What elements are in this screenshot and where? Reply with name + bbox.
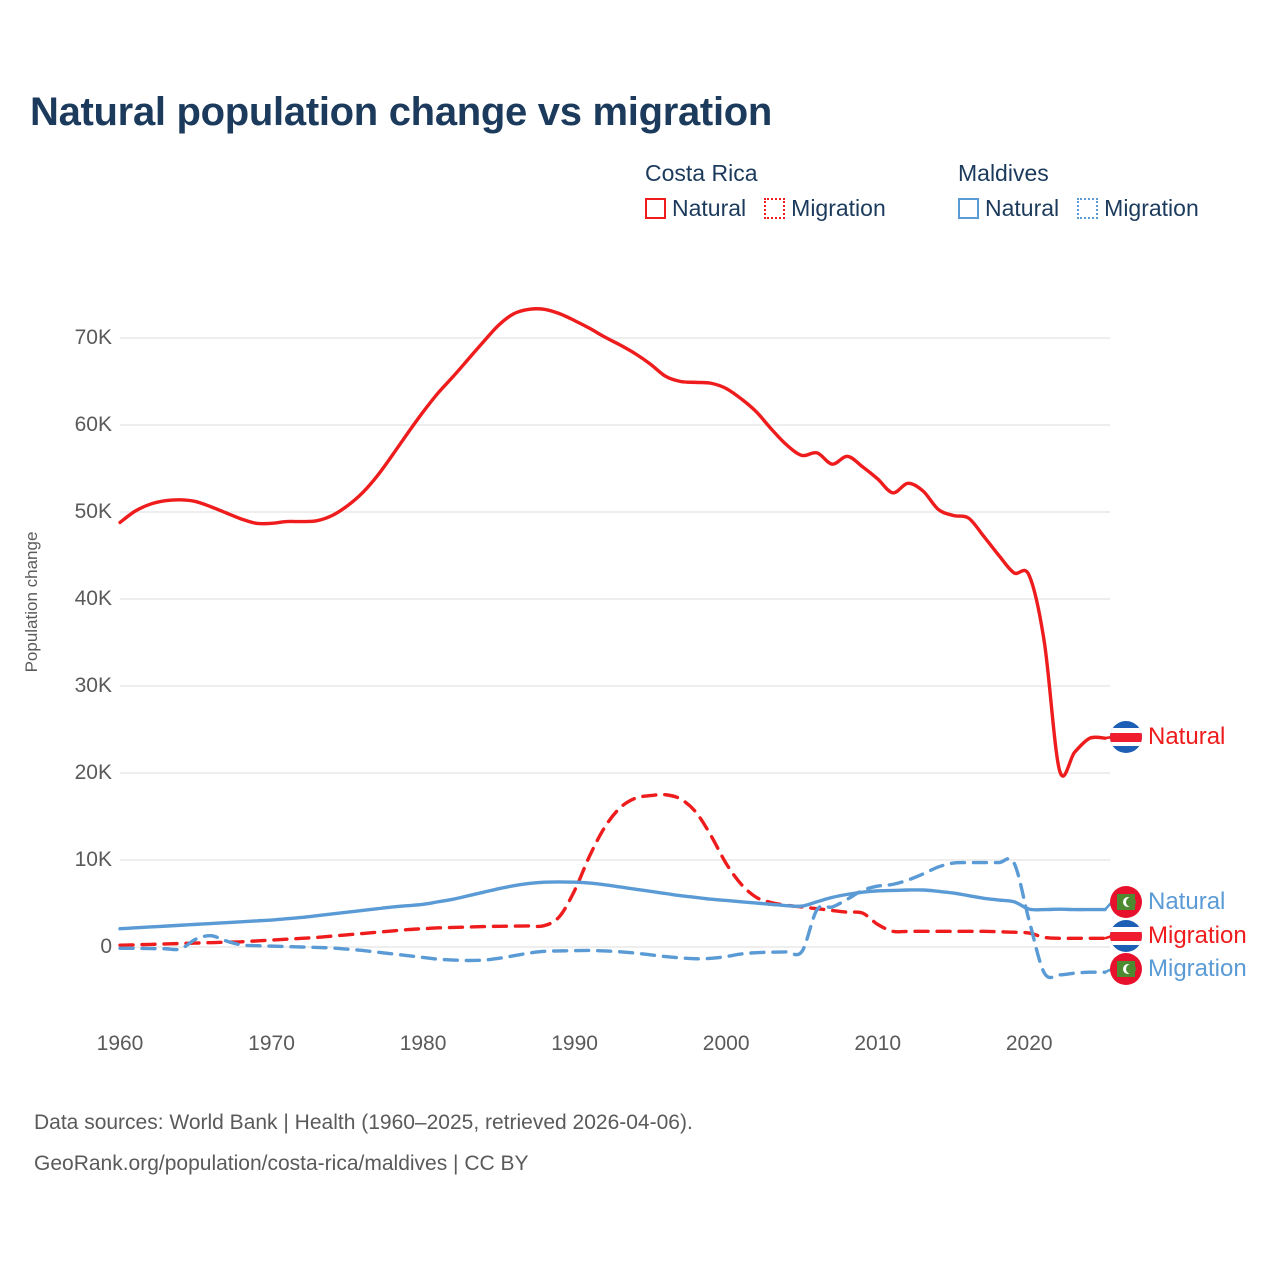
y-axis-tick-label: 20K <box>2 761 112 785</box>
costa-rica-flag-icon <box>1110 721 1142 753</box>
footer-line-2: GeoRank.org/population/costa-rica/maldiv… <box>34 1152 529 1176</box>
end-label-text: Natural <box>1148 723 1225 751</box>
legend-country-label: Maldives <box>958 160 1199 187</box>
maldives-flag-icon <box>1110 886 1142 918</box>
legend-item-label: Natural <box>672 195 746 222</box>
end-label-text: Migration <box>1148 955 1247 983</box>
series-line-costa-rica-natural <box>120 309 1105 776</box>
legend-swatch-dotted-icon <box>1077 198 1098 219</box>
legend-item-label: Migration <box>1104 195 1199 222</box>
x-axis-tick-label: 1970 <box>248 1032 295 1056</box>
legend-item-label: Natural <box>985 195 1059 222</box>
legend-item-costa-rica-natural[interactable]: Natural <box>645 195 746 222</box>
legend-item-maldives-natural[interactable]: Natural <box>958 195 1059 222</box>
page-title: Natural population change vs migration <box>30 90 772 135</box>
legend-swatch-dotted-icon <box>764 198 785 219</box>
chart-root: Natural population change vs migration C… <box>0 0 1280 1280</box>
y-axis-tick-label: 0 <box>2 935 112 959</box>
y-axis-tick-label: 40K <box>2 587 112 611</box>
legend-item-maldives-migration[interactable]: Migration <box>1077 195 1199 222</box>
x-axis-tick-label: 2000 <box>703 1032 750 1056</box>
x-axis-tick-label: 1980 <box>400 1032 447 1056</box>
x-axis-tick-label: 1960 <box>97 1032 144 1056</box>
end-label-maldives-natural[interactable]: Natural <box>1110 886 1225 918</box>
end-label-costa-rica-migration[interactable]: Migration <box>1110 920 1247 952</box>
y-axis-tick-label: 70K <box>2 326 112 350</box>
y-axis-tick-label: 50K <box>2 500 112 524</box>
legend-item-costa-rica-migration[interactable]: Migration <box>764 195 886 222</box>
y-axis-ticks: 010K20K30K40K50K60K70K <box>0 0 112 1000</box>
series-line-maldives-migration <box>120 859 1105 978</box>
series-line-maldives-natural <box>120 882 1105 929</box>
costa-rica-flag-icon <box>1110 920 1142 952</box>
end-label-text: Natural <box>1148 888 1225 916</box>
series-line-costa-rica-migration <box>120 795 1105 946</box>
footer-line-1: Data sources: World Bank | Health (1960–… <box>34 1111 693 1135</box>
y-axis-tick-label: 10K <box>2 848 112 872</box>
end-label-costa-rica-natural[interactable]: Natural <box>1110 721 1225 753</box>
legend-swatch-solid-icon <box>645 198 666 219</box>
legend-group-maldives: Maldives Natural Migration <box>958 160 1199 222</box>
x-axis-tick-label: 2020 <box>1006 1032 1053 1056</box>
legend-swatch-solid-icon <box>958 198 979 219</box>
maldives-flag-icon <box>1110 953 1142 985</box>
legend-country-label: Costa Rica <box>645 160 886 187</box>
end-label-text: Migration <box>1148 922 1247 950</box>
y-axis-tick-label: 30K <box>2 674 112 698</box>
end-label-maldives-migration[interactable]: Migration <box>1110 953 1247 985</box>
legend-group-costa-rica: Costa Rica Natural Migration <box>645 160 886 222</box>
x-axis-tick-label: 1990 <box>551 1032 598 1056</box>
chart-legend: Costa Rica Natural Migration Maldives Na… <box>645 160 1265 240</box>
x-axis-tick-label: 2010 <box>854 1032 901 1056</box>
y-axis-tick-label: 60K <box>2 413 112 437</box>
legend-item-label: Migration <box>791 195 886 222</box>
